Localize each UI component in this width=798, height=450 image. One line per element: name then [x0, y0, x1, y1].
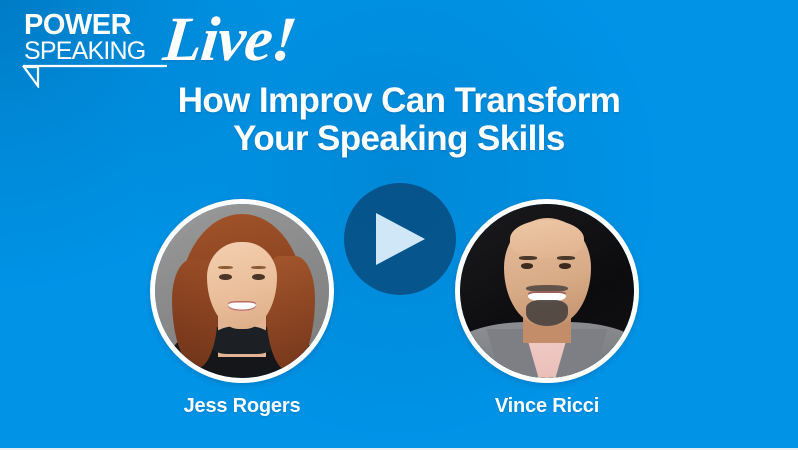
logo-power-text: POWER	[24, 11, 172, 39]
logo-live-text: Live!	[160, 4, 299, 74]
photo-left-eye-left	[219, 274, 231, 280]
speaker-photo-left	[155, 204, 329, 378]
photo-right-goatee	[526, 300, 568, 326]
photo-left-smile	[228, 301, 256, 311]
photo-right-eyebrow-right	[557, 256, 574, 260]
logo-wordmark: POWER SPEAKING	[22, 8, 172, 64]
photo-right-eye-right	[559, 263, 571, 269]
play-triangle-icon	[372, 210, 428, 268]
speaker-photo-right	[460, 204, 634, 378]
photo-right-eyebrow-left	[519, 256, 536, 260]
speaker-name-right: Vince Ricci	[417, 394, 677, 418]
video-thumbnail-card[interactable]: POWER SPEAKING Live! How Improv Can Tran…	[0, 0, 798, 450]
photo-left-collar	[212, 326, 271, 354]
video-title: How Improv Can Transform Your Speaking S…	[0, 82, 798, 158]
video-title-line-1: How Improv Can Transform	[0, 82, 798, 120]
avatar-jess-rogers	[150, 199, 334, 383]
logo-speaking-text: SPEAKING	[24, 39, 172, 64]
video-title-line-2: Your Speaking Skills	[0, 120, 798, 158]
photo-right-bald-crown	[510, 220, 583, 258]
play-button[interactable]	[344, 183, 456, 295]
powerspeaking-live-logo: POWER SPEAKING Live!	[22, 8, 292, 82]
avatar-vince-ricci	[455, 199, 639, 383]
speaker-name-left: Jess Rogers	[112, 394, 372, 418]
photo-left-eye-right	[252, 274, 264, 280]
photo-right-eye-left	[521, 263, 533, 269]
